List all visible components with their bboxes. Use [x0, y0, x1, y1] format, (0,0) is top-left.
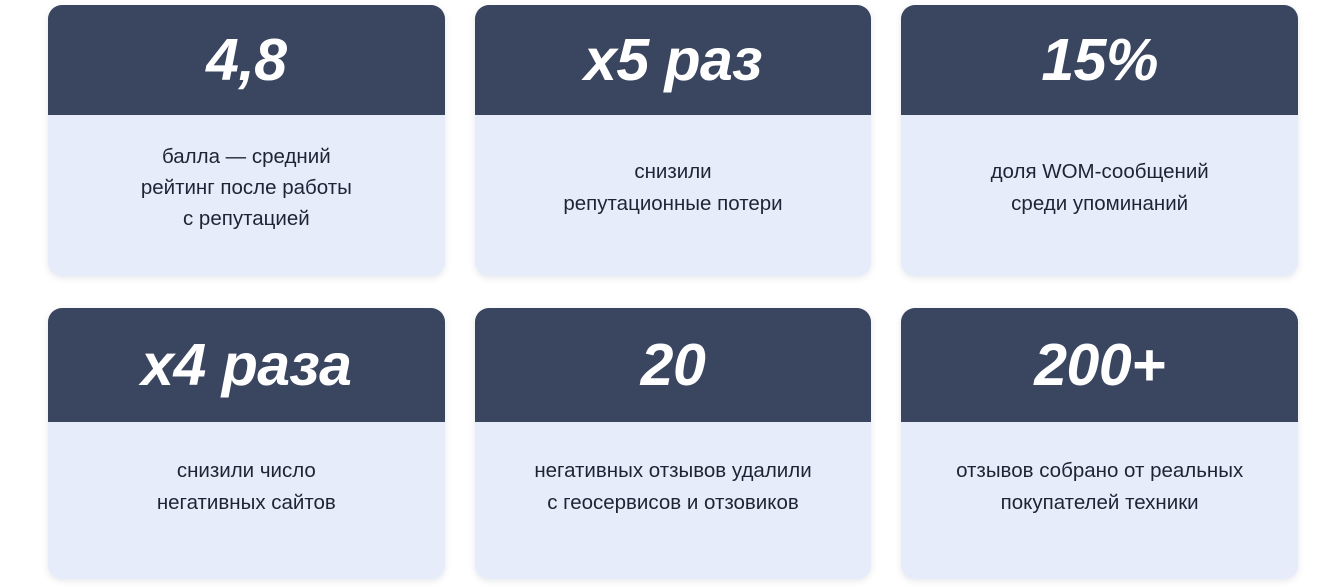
- stat-card-6: 200+ отзывов собрано от реальных покупат…: [901, 308, 1298, 579]
- stat-card-1-label: балла — средний рейтинг после работы с р…: [141, 141, 352, 234]
- stat-card-1: 4,8 балла — средний рейтинг после работы…: [48, 5, 445, 276]
- stat-card-5: 20 негативных отзывов удалили с геосерви…: [475, 308, 872, 579]
- stat-card-4-body: снизили число негативных сайтов: [48, 422, 445, 579]
- stat-card-3-value: 15%: [1041, 31, 1158, 90]
- stat-card-2-label: снизили репутационные потери: [563, 156, 782, 218]
- stat-card-2-header: x5 раз: [475, 5, 872, 115]
- stats-card-grid: 4,8 балла — средний рейтинг после работы…: [0, 0, 1340, 588]
- stat-card-1-header: 4,8: [48, 5, 445, 115]
- stat-card-6-value: 200+: [1034, 336, 1165, 395]
- stat-card-2-body: снизили репутационные потери: [475, 115, 872, 276]
- stat-card-2-value: x5 раз: [584, 31, 762, 90]
- stat-card-5-value: 20: [641, 336, 706, 395]
- stat-card-2: x5 раз снизили репутационные потери: [475, 5, 872, 276]
- stat-card-6-label: отзывов собрано от реальных покупателей …: [956, 455, 1243, 517]
- stat-card-3-body: доля WOM-сообщений среди упоминаний: [901, 115, 1298, 276]
- stat-card-3: 15% доля WOM-сообщений среди упоминаний: [901, 5, 1298, 276]
- stat-card-5-header: 20: [475, 308, 872, 422]
- stat-card-4-label: снизили число негативных сайтов: [157, 455, 336, 517]
- stat-card-1-body: балла — средний рейтинг после работы с р…: [48, 115, 445, 276]
- stat-card-3-label: доля WOM-сообщений среди упоминаний: [991, 156, 1209, 218]
- stat-card-1-value: 4,8: [206, 31, 287, 90]
- stat-card-4: x4 раза снизили число негативных сайтов: [48, 308, 445, 579]
- stat-card-5-body: негативных отзывов удалили с геосервисов…: [475, 422, 872, 579]
- stat-card-6-header: 200+: [901, 308, 1298, 422]
- stat-card-4-header: x4 раза: [48, 308, 445, 422]
- stat-card-3-header: 15%: [901, 5, 1298, 115]
- stat-card-5-label: негативных отзывов удалили с геосервисов…: [534, 455, 811, 517]
- stat-card-4-value: x4 раза: [141, 336, 351, 395]
- stat-card-6-body: отзывов собрано от реальных покупателей …: [901, 422, 1298, 579]
